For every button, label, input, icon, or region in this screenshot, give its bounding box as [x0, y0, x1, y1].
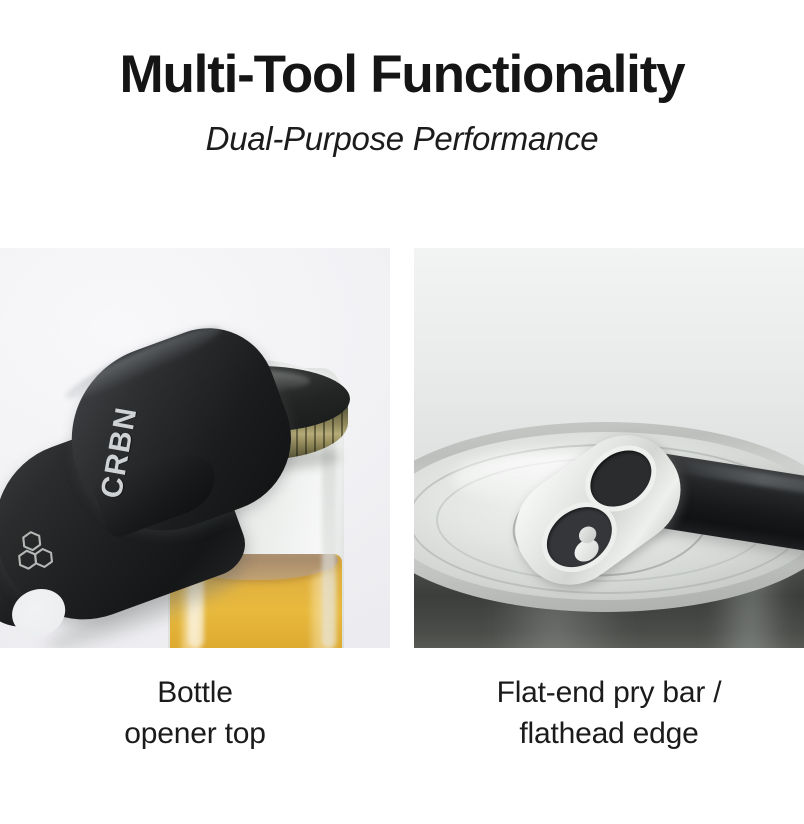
- hexagon-cluster-icon: [15, 527, 65, 576]
- page-subtitle: Dual-Purpose Performance: [0, 122, 804, 155]
- caption-bottle-opener: Bottle opener top: [0, 672, 390, 755]
- panel-bottle-opener: CRBN: [0, 248, 390, 648]
- panel-pry-bar: [414, 248, 804, 648]
- header: Multi-Tool Functionality Dual-Purpose Pe…: [0, 0, 804, 155]
- image-panels: CRBN: [0, 248, 804, 648]
- caption-pry-bar: Flat-end pry bar / flathead edge: [414, 672, 804, 755]
- page-title: Multi-Tool Functionality: [0, 48, 804, 101]
- panel-captions: Bottle opener top Flat-end pry bar / fla…: [0, 672, 804, 755]
- product-feature-card: Multi-Tool Functionality Dual-Purpose Pe…: [0, 0, 804, 824]
- aluminium-can: [414, 368, 804, 648]
